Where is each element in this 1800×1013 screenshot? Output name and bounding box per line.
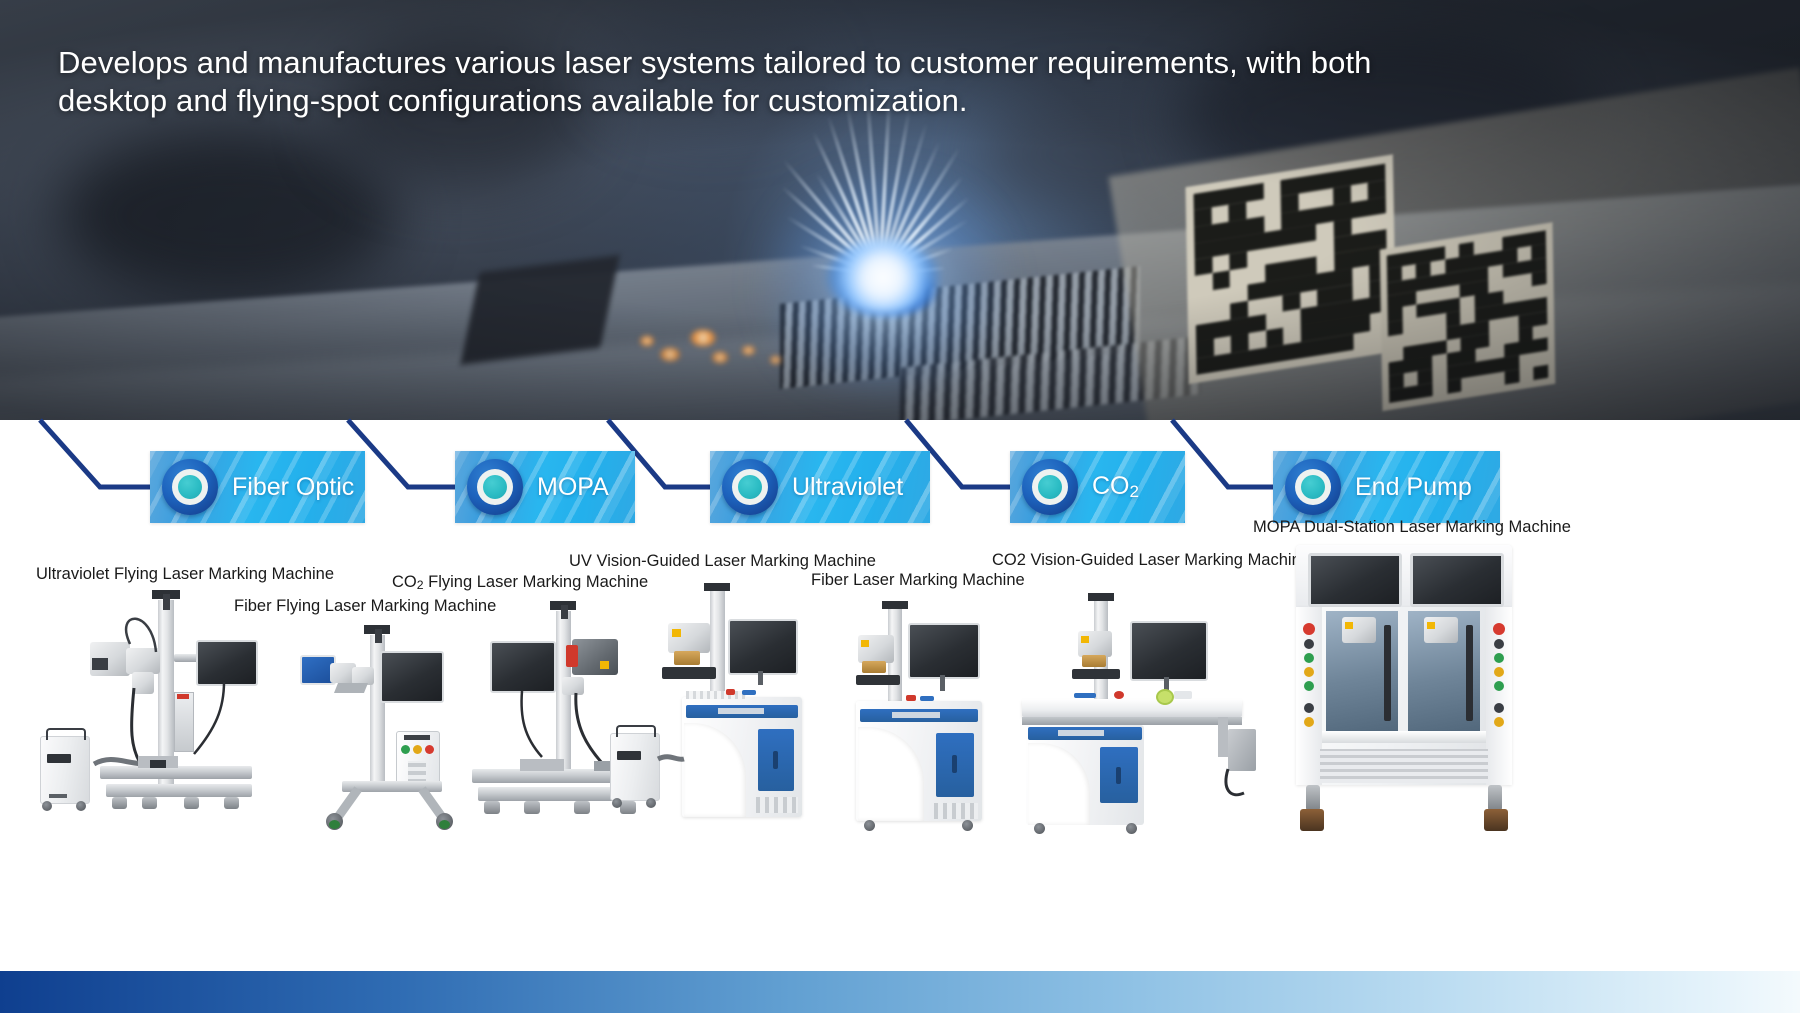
slide-canvas: Develops and manufactures various laser … (0, 0, 1800, 1013)
product-image-fiber-desktop (850, 601, 1000, 833)
product-caption-fiber-desktop: Fiber Laser Marking Machine (811, 571, 1025, 590)
ring-dot-icon (1022, 459, 1078, 515)
product-image-ultraviolet-flying (34, 588, 259, 828)
ring-dot-icon (1285, 459, 1341, 515)
hero-headline: Develops and manufactures various laser … (58, 44, 1428, 121)
badge-ultraviolet[interactable]: Ultraviolet (710, 451, 930, 523)
product-caption-ultraviolet-flying: Ultraviolet Flying Laser Marking Machine (36, 565, 334, 584)
footer-gradient-band (0, 971, 1800, 1013)
product-caption-co2-vision: CO2 Vision-Guided Laser Marking Machine (992, 551, 1310, 570)
ring-dot-icon (467, 459, 523, 515)
badge-co2[interactable]: CO2 (1010, 451, 1185, 523)
badge-label: End Pump (1355, 473, 1472, 502)
badge-label: Ultraviolet (792, 473, 903, 502)
badge-fiber-optic[interactable]: Fiber Optic (150, 451, 365, 523)
connector-end-pump (1172, 420, 1273, 487)
product-caption-fiber-flying: Fiber Flying Laser Marking Machine (234, 597, 496, 616)
product-image-co2-vision (1022, 593, 1274, 833)
connector-fiber-optic (40, 420, 150, 487)
badge-end-pump[interactable]: End Pump (1273, 451, 1500, 523)
badge-label: CO2 (1092, 472, 1139, 502)
ring-dot-icon (162, 459, 218, 515)
product-image-fiber-flying (296, 617, 476, 829)
product-image-mopa-dual-station (1296, 545, 1512, 837)
badge-mopa[interactable]: MOPA (455, 451, 635, 523)
ring-dot-icon (722, 459, 778, 515)
hero-image: Develops and manufactures various laser … (0, 0, 1800, 420)
badge-label: Fiber Optic (232, 473, 354, 502)
product-caption-uv-vision: UV Vision-Guided Laser Marking Machine (569, 552, 876, 571)
badge-label: MOPA (537, 473, 609, 502)
product-caption-mopa-dual: MOPA Dual-Station Laser Marking Machine (1253, 518, 1571, 537)
product-image-uv-vision (606, 583, 818, 831)
